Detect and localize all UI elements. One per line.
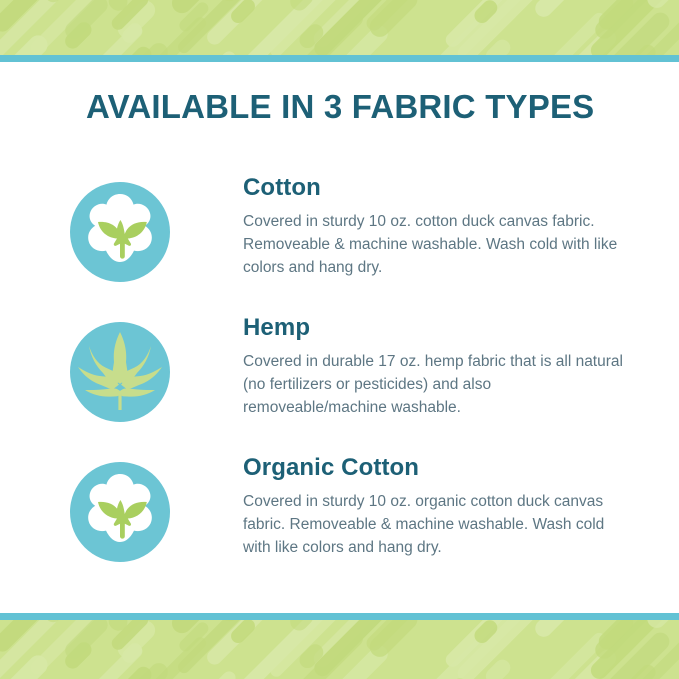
bottom-decorative-band — [0, 612, 679, 679]
fabric-body-organic-cotton: Covered in sturdy 10 oz. organic cotton … — [243, 491, 623, 559]
hemp-leaf-icon — [68, 320, 172, 424]
fabric-body-hemp: Covered in durable 17 oz. hemp fabric th… — [243, 351, 623, 419]
fabric-text-cotton: Cotton Covered in sturdy 10 oz. cotton d… — [243, 175, 623, 280]
bottom-band-green-fill — [0, 620, 679, 679]
top-band-green-fill — [0, 0, 679, 56]
bottom-band-stripe-pattern — [0, 620, 679, 679]
top-decorative-band — [0, 0, 679, 62]
top-band-stripe-pattern — [0, 0, 679, 56]
fabric-types-infographic: AVAILABLE IN 3 FABRIC TYPES Cotton Cover… — [0, 0, 679, 679]
bottom-band-blue-rule — [0, 613, 679, 620]
cotton-boll-icon — [68, 460, 172, 564]
fabric-body-cotton: Covered in sturdy 10 oz. cotton duck can… — [243, 211, 623, 279]
fabric-heading-organic-cotton: Organic Cotton — [243, 455, 623, 481]
fabric-text-hemp: Hemp Covered in durable 17 oz. hemp fabr… — [243, 315, 623, 420]
page-title: AVAILABLE IN 3 FABRIC TYPES — [86, 88, 606, 126]
fabric-heading-cotton: Cotton — [243, 175, 623, 201]
top-band-blue-rule — [0, 55, 679, 62]
cotton-boll-icon — [68, 180, 172, 284]
fabric-text-organic-cotton: Organic Cotton Covered in sturdy 10 oz. … — [243, 455, 623, 560]
fabric-heading-hemp: Hemp — [243, 315, 623, 341]
